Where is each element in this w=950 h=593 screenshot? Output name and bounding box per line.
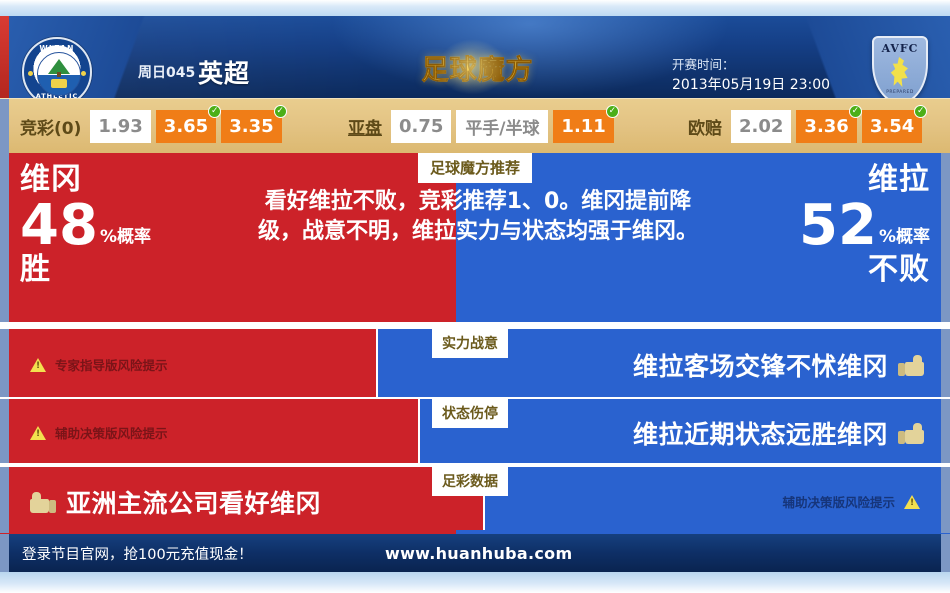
odds-cell[interactable]: 3.36✓ (796, 110, 856, 143)
footer-bar: 登录节目官网，抢100元充值现金！ www.huanhuba.com (0, 534, 950, 572)
insight-headline: 亚洲主流公司看好维冈 (30, 484, 321, 520)
footer-promo-text: 登录节目官网，抢100元充值现金！ (22, 543, 253, 564)
insight-row[interactable]: 实力战意专家指导版风险提示维拉客场交锋不怵维冈 (0, 329, 950, 397)
insight-row[interactable]: 状态伤停辅助决策版风险提示维拉近期状态远胜维冈 (0, 399, 950, 463)
odds-group-title: 欧赔 (688, 114, 722, 139)
reco-left-edge (0, 153, 9, 322)
odds-left-edge (0, 99, 9, 154)
crown-icon (51, 79, 67, 88)
risk-warning-note: 专家指导版风险提示 (30, 355, 168, 374)
home-outcome: 胜 (20, 255, 151, 285)
odds-cell[interactable]: 1.93 (90, 110, 150, 143)
odds-cell[interactable]: 3.54✓ (862, 110, 922, 143)
odds-value: 3.35 (229, 116, 273, 137)
odds-value: 平手/半球 (465, 114, 539, 139)
warning-triangle-icon (30, 426, 46, 440)
check-icon: ✓ (274, 105, 287, 118)
row-right-edge (941, 329, 950, 397)
home-percent-value: 48 (20, 201, 98, 251)
row-left-edge (0, 329, 9, 397)
odds-group-title: 竞彩(0) (20, 114, 81, 139)
insight-headline: 维拉客场交锋不怵维冈 (633, 347, 924, 383)
risk-warning-text: 辅助决策版风险提示 (782, 492, 895, 511)
match-number: 周日045 (138, 62, 195, 82)
row-left-edge (0, 467, 9, 533)
match-header: WIGAN ATHLETIC 周日045 英超 足球魔方 开赛时间： 2013年… (0, 16, 950, 98)
crest-inner-disc (37, 52, 81, 96)
thumbs-up-icon (898, 422, 924, 444)
odds-value: 3.65 (164, 116, 208, 137)
bottom-sky-gradient (0, 572, 950, 593)
odds-value: 1.93 (98, 116, 142, 137)
warning-triangle-icon (30, 358, 46, 372)
league-name: 英超 (198, 54, 250, 90)
away-percent-value: 52 (799, 201, 877, 251)
row-category-tag: 实力战意 (432, 329, 508, 358)
check-icon: ✓ (914, 105, 927, 118)
away-probability: 维拉 52 %概率 不败 (799, 165, 930, 285)
away-outcome: 不败 (799, 255, 930, 285)
thumbs-up-icon (898, 354, 924, 376)
insight-headline: 维拉近期状态远胜维冈 (633, 415, 924, 451)
footer-website-url[interactable]: www.huanhuba.com (385, 544, 572, 563)
insight-headline-text: 维拉客场交锋不怵维冈 (633, 347, 888, 383)
row-right-edge (941, 399, 950, 463)
kickoff-label: 开赛时间： (672, 54, 735, 73)
row-category-tag: 状态伤停 (432, 399, 508, 428)
check-icon: ✓ (208, 105, 221, 118)
risk-warning-text: 专家指导版风险提示 (55, 355, 168, 374)
odds-value: 2.02 (739, 116, 783, 137)
row-left-edge (0, 399, 9, 463)
odds-cell[interactable]: 3.65✓ (156, 110, 216, 143)
check-icon: ✓ (849, 105, 862, 118)
odds-cell[interactable]: 3.35✓ (221, 110, 281, 143)
row-right-edge (941, 467, 950, 533)
aston-villa-crest-icon: AVFC PREPARED (872, 36, 928, 98)
row-category-tag: 足彩数据 (432, 467, 508, 496)
recommendation-panel: 维冈 48 %概率 胜 维拉 52 %概率 不败 足球魔方推荐 看好维拉不败，竞… (0, 153, 950, 322)
avfc-motto: PREPARED (874, 90, 926, 95)
avfc-label: AVFC (874, 42, 926, 55)
wigan-athletic-crest-icon: WIGAN ATHLETIC (22, 37, 92, 98)
odds-cell[interactable]: 平手/半球 (456, 110, 548, 143)
odds-value: 3.54 (870, 116, 914, 137)
footer-right-edge (941, 534, 950, 572)
brand-logo: 足球魔方 (415, 45, 540, 89)
header-red-accent-bar (0, 16, 9, 98)
odds-value: 3.36 (804, 116, 848, 137)
odds-group-title: 亚盘 (348, 114, 382, 139)
crest-dot-right (81, 71, 86, 76)
insight-row[interactable]: 足彩数据辅助决策版风险提示亚洲主流公司看好维冈 (0, 467, 950, 533)
home-team-name: 维冈 (20, 165, 151, 195)
thumbs-up-icon (30, 491, 56, 513)
odds-group-1: 亚盘0.75平手/半球1.11✓ (348, 99, 619, 154)
odds-group-2: 欧赔2.023.36✓3.54✓ (688, 99, 927, 154)
odds-value: 0.75 (399, 116, 443, 137)
tree-trunk-icon (57, 72, 61, 77)
recommendation-tag: 足球魔方推荐 (418, 153, 532, 183)
match-preview-page: WIGAN ATHLETIC 周日045 英超 足球魔方 开赛时间： 2013年… (0, 0, 950, 593)
home-probability: 维冈 48 %概率 胜 (20, 165, 151, 285)
crest-dot-left (28, 71, 33, 76)
odds-bar: 竞彩(0)1.933.65✓3.35✓亚盘0.75平手/半球1.11✓欧赔2.0… (0, 98, 950, 153)
risk-warning-note: 辅助决策版风险提示 (782, 492, 920, 511)
reco-right-edge (941, 153, 950, 322)
odds-value: 1.11 (561, 116, 605, 137)
lion-icon (890, 57, 910, 87)
odds-cell[interactable]: 2.02 (731, 110, 791, 143)
odds-group-0: 竞彩(0)1.933.65✓3.35✓ (20, 99, 287, 154)
away-team-name: 维拉 (799, 165, 930, 195)
check-icon: ✓ (606, 105, 619, 118)
footer-left-edge (0, 534, 9, 572)
brand-logo-text: 足球魔方 (422, 48, 534, 87)
recommendation-text: 看好维拉不败，竞彩推荐1、0。维冈提前降级，战意不明，维拉实力与状态均强于维冈。 (243, 187, 713, 248)
risk-warning-text: 辅助决策版风险提示 (55, 423, 168, 442)
warning-triangle-icon (904, 495, 920, 509)
risk-warning-note: 辅助决策版风险提示 (30, 423, 168, 442)
away-percent-suffix: %概率 (879, 229, 930, 251)
odds-cell[interactable]: 0.75 (391, 110, 451, 143)
kickoff-time: 2013年05月19日 23:00 (672, 74, 830, 94)
top-sky-gradient (0, 0, 950, 16)
insight-headline-text: 维拉近期状态远胜维冈 (633, 415, 888, 451)
home-percent-suffix: %概率 (100, 229, 151, 251)
insight-headline-text: 亚洲主流公司看好维冈 (66, 484, 321, 520)
odds-cell[interactable]: 1.11✓ (553, 110, 613, 143)
